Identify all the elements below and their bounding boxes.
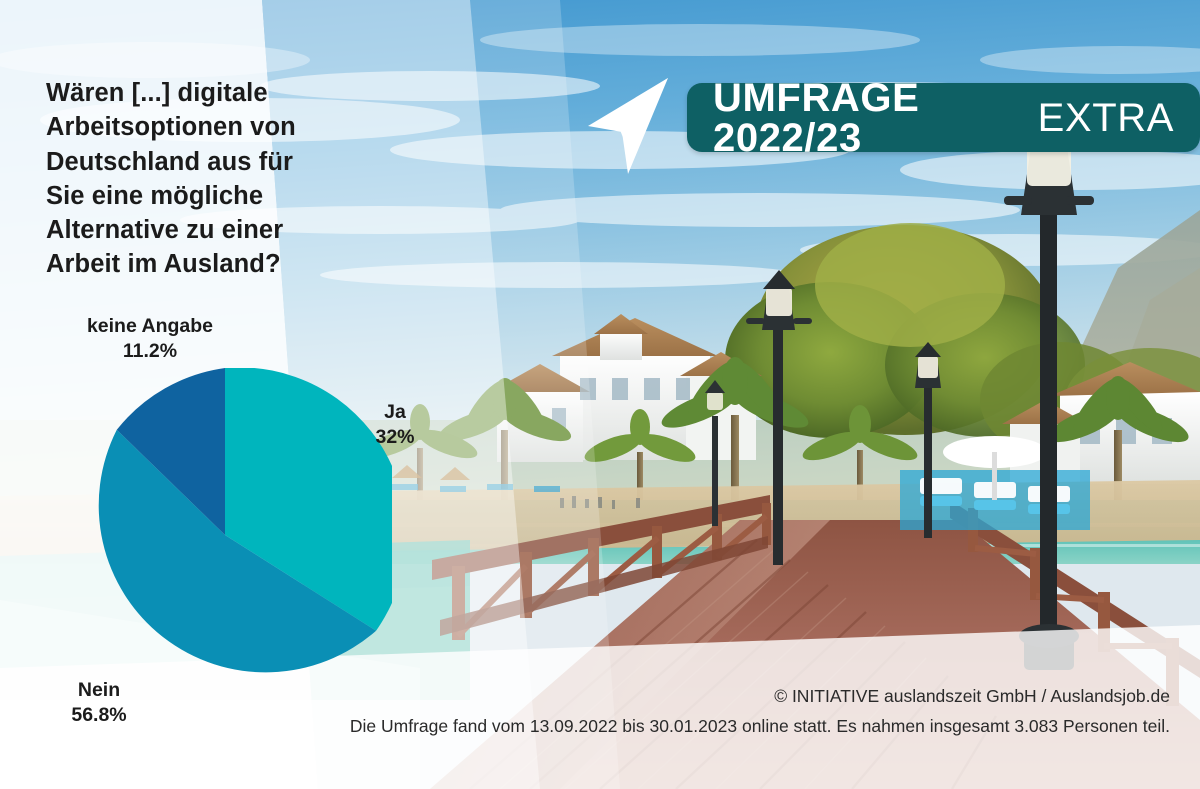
headline-line-6: Arbeit im Ausland? [46,247,296,281]
pie-label-keine-angabe: keine Angabe 11.2% [55,314,245,363]
pie-label-nein: Nein 56.8% [24,678,174,727]
headline-line-5: Alternative zu einer [46,213,296,247]
headline-line-2: Arbeitsoptionen von [46,110,296,144]
survey-badge: UMFRAGE 2022/23 EXTRA [687,83,1200,152]
badge-primary-text: UMFRAGE 2022/23 [713,78,1025,158]
survey-note-text: Die Umfrage fand vom 13.09.2022 bis 30.0… [350,716,1170,737]
headline: Wären [...] digitale Arbeitsoptionen von… [46,76,296,282]
copyright-text: © INITIATIVE auslandszeit GmbH / Ausland… [774,686,1170,707]
pie-label-nein-name: Nein [24,678,174,703]
pie-label-nein-value: 56.8% [24,703,174,728]
badge-secondary-text: EXTRA [1038,98,1174,138]
headline-line-4: Sie eine mögliche [46,179,296,213]
pie-label-ja: Ja 32% [337,400,453,449]
pie-label-ja-value: 32% [337,425,453,450]
headline-line-3: Deutschland aus für [46,145,296,179]
arrow-logo-icon [572,70,684,182]
pie-label-keine-angabe-value: 11.2% [55,339,245,364]
infographic-canvas: Wären [...] digitale Arbeitsoptionen von… [0,0,1200,789]
pie-label-ja-name: Ja [337,400,453,425]
headline-line-1: Wären [...] digitale [46,76,296,110]
pie-label-keine-angabe-name: keine Angabe [55,314,245,339]
